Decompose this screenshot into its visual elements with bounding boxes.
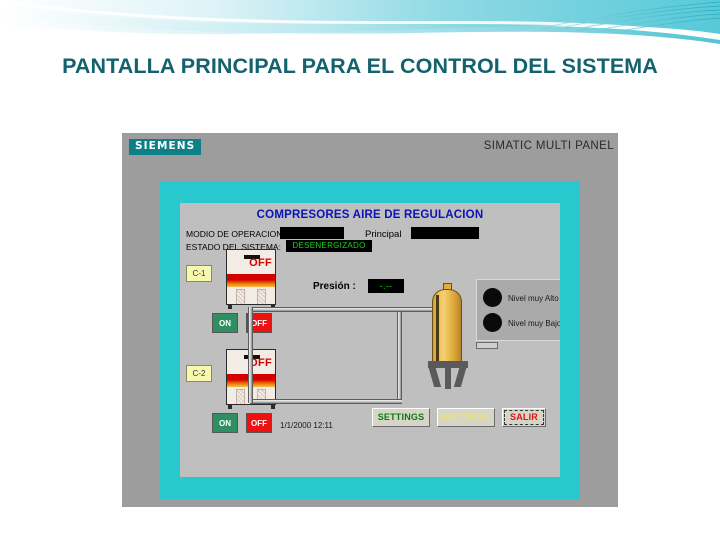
timestamp: 1/1/2000 12:11 — [280, 421, 333, 430]
estado-sistema-value: DESENERGIZADO — [286, 240, 372, 252]
pressure-label: Presión : — [313, 281, 356, 292]
modo-operacion-field[interactable] — [280, 227, 344, 239]
lamp-nivel-muy-alto[interactable] — [483, 288, 502, 307]
salir-button[interactable]: SALIR — [502, 408, 546, 427]
compressor-foot-right — [271, 405, 275, 409]
pressure-value-field: -.-- — [368, 279, 404, 293]
compressor-vent-right-icon — [257, 289, 266, 305]
simatic-panel: SIEMENS SIMATIC MULTI PANEL TOUCH COMPRE… — [122, 133, 618, 507]
compressor-vent-left-icon — [236, 389, 245, 405]
page-title: PANTALLA PRINCIPAL PARA EL CONTROL DEL S… — [40, 52, 680, 80]
settings-button[interactable]: SETTINGS — [372, 408, 430, 427]
compressor-state-c1: OFF — [249, 257, 272, 269]
pipe-top-horizontal — [250, 307, 402, 312]
level-label-high: Nivel muy Alto — [508, 294, 559, 303]
historial-button[interactable]: HISTORIAL — [437, 408, 495, 427]
modo-operacion-label: MODIO DE OPERACION — [186, 229, 282, 239]
outlet-stub — [476, 342, 498, 349]
lamp-nivel-muy-bajo[interactable] — [483, 313, 502, 332]
principal-field[interactable] — [411, 227, 479, 239]
compressor-c2-off-button[interactable]: OFF — [246, 413, 272, 433]
level-indicator-panel: Nivel muy Alto Nivel muy Bajo — [476, 279, 560, 341]
banner-swoosh-graphic — [0, 0, 720, 52]
hmi-screen-title: COMPRESORES AIRE DE REGULACION — [180, 209, 560, 221]
tank-leg-right — [454, 365, 467, 387]
pipe-left-vertical — [248, 307, 253, 403]
screen-bezel: COMPRESORES AIRE DE REGULACION MODIO DE … — [160, 181, 580, 499]
compressor-c2-on-button[interactable]: ON — [212, 413, 238, 433]
tank-saddle — [428, 361, 468, 368]
principal-label: Principal — [365, 229, 401, 240]
level-label-low: Nivel muy Bajo — [508, 319, 560, 328]
tank-seam — [436, 295, 439, 363]
siemens-logo: SIEMENS — [129, 139, 201, 155]
compressor-c1-on-button[interactable]: ON — [212, 313, 238, 333]
pipe-bottom-horizontal — [250, 399, 402, 404]
tank-leg-center — [445, 365, 451, 389]
tank-leg-left — [428, 365, 441, 387]
air-receiver-tank — [428, 281, 468, 393]
hmi-screen[interactable]: COMPRESORES AIRE DE REGULACION MODIO DE … — [180, 203, 560, 477]
slide-page: PANTALLA PRINCIPAL PARA EL CONTROL DEL S… — [0, 0, 720, 540]
compressor-foot-left — [228, 405, 232, 409]
compressor-stripe — [227, 274, 275, 287]
decorative-banner — [0, 0, 720, 52]
compressor-unit-c1[interactable]: OFF — [226, 249, 276, 305]
pipe-riser-vertical — [397, 307, 402, 403]
compressor-tag-c1: C-1 — [186, 265, 212, 282]
compressor-tag-c2: C-2 — [186, 365, 212, 382]
simatic-model-label: SIMATIC MULTI PANEL — [484, 140, 614, 152]
compressor-vent-left-icon — [236, 289, 245, 305]
compressor-foot-left — [228, 305, 232, 309]
